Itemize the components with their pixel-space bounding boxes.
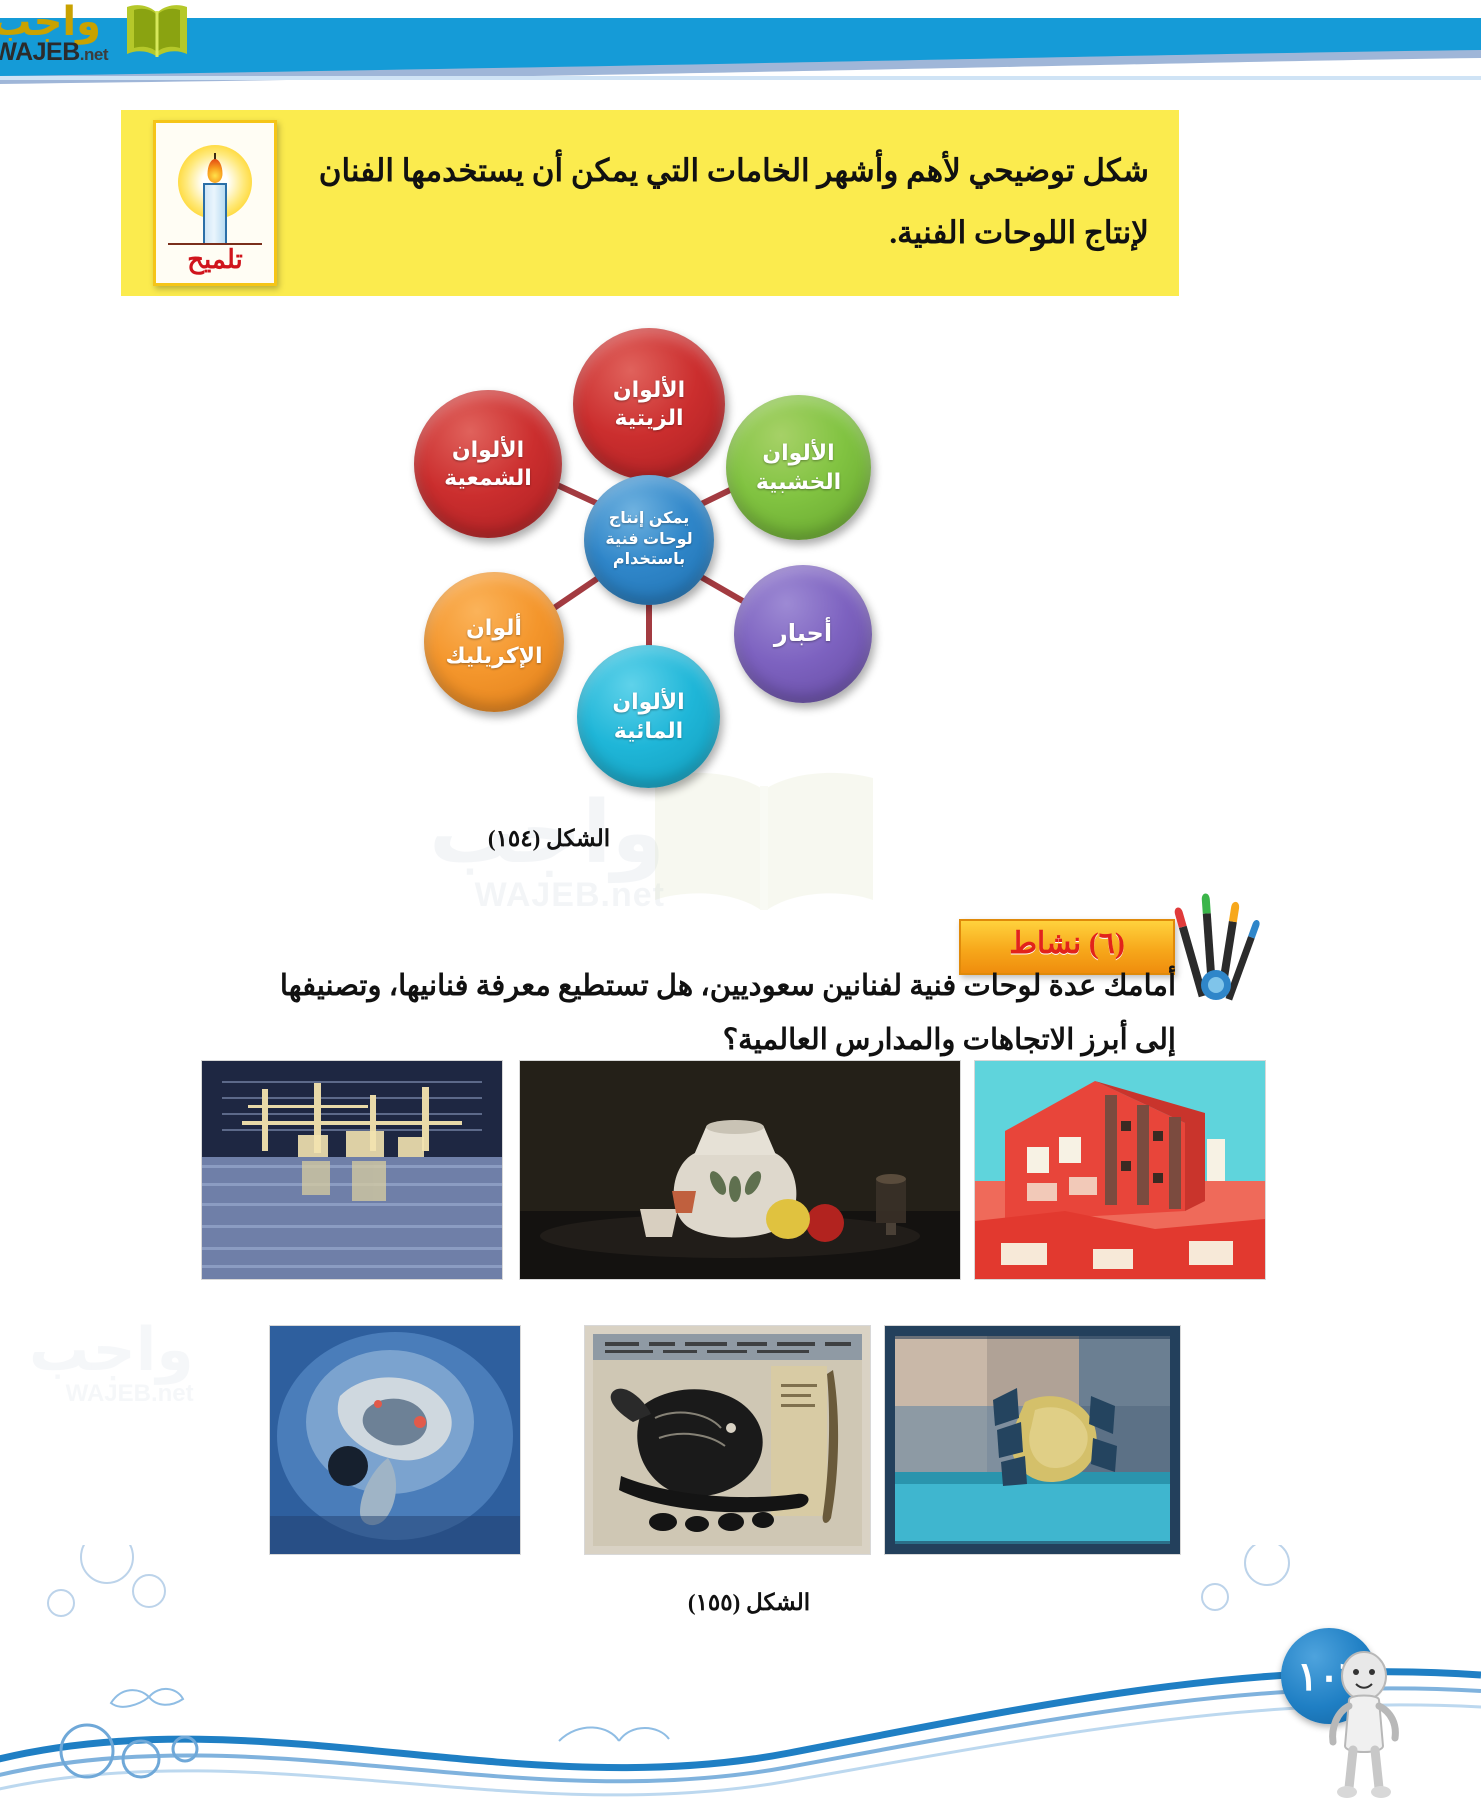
painting-blue-abstract[interactable] bbox=[270, 1325, 522, 1555]
diagram-node-label: أحبار bbox=[769, 619, 839, 650]
painting-still-life-vase[interactable] bbox=[520, 1060, 962, 1280]
page-footer bbox=[0, 1545, 1482, 1800]
figure-caption-154: الشكل (١٥٤) bbox=[450, 826, 650, 852]
site-brand: واجب WAJEB.net bbox=[14, 2, 214, 64]
diagram-node-wood-colors[interactable]: الألوان الخشبية bbox=[727, 395, 872, 540]
diagram-node-label: الألوان الزيتية bbox=[574, 376, 726, 432]
activity-question-text: أمامك عدة لوحات فنية لفنانين سعوديين، هل… bbox=[277, 960, 1177, 1067]
diagram-node-wax-colors[interactable]: الألوان الشمعية bbox=[415, 390, 563, 538]
diagram-node-label: الألوان الشمعية bbox=[415, 436, 563, 492]
hint-box: شكل توضيحي لأهم وأشهر الخامات التي يمكن … bbox=[122, 110, 1180, 296]
diagram-node-oil-colors[interactable]: الألوان الزيتية bbox=[574, 328, 726, 480]
painting-calligraphy-dark[interactable] bbox=[585, 1325, 872, 1555]
paintings-row-2 bbox=[0, 1325, 1482, 1555]
hint-label: تلميح bbox=[157, 245, 275, 275]
candle-icon bbox=[204, 183, 228, 245]
hint-text: شكل توضيحي لأهم وأشهر الخامات التي يمكن … bbox=[290, 140, 1150, 264]
activity-label: (٦) نشاط bbox=[962, 926, 1174, 961]
painting-cityscape-blue[interactable] bbox=[202, 1060, 504, 1280]
watermark-main: واجب WAJEB.net bbox=[430, 790, 666, 915]
diagram-node-inks[interactable]: أحبار bbox=[735, 565, 873, 703]
diagram-node-center[interactable]: يمكن إنتاج لوحات فنية باستخدام bbox=[585, 475, 715, 605]
brand-latin: WAJEB.net bbox=[0, 40, 109, 65]
watermark-latin: WAJEB.net bbox=[430, 876, 666, 915]
painting-geometric-sphere[interactable] bbox=[885, 1325, 1182, 1555]
hint-icon-card: تلميح bbox=[154, 120, 278, 286]
materials-diagram: الألوان الزيتية الألوان الخشبية أحبار ال… bbox=[390, 300, 910, 800]
open-book-icon bbox=[124, 0, 192, 62]
paintings-row-1 bbox=[0, 1060, 1482, 1280]
diagram-node-label: الألوان الخشبية bbox=[727, 439, 872, 495]
diagram-node-label: ألوان الإكريليك bbox=[425, 614, 565, 670]
flame-icon bbox=[209, 159, 224, 183]
diagram-node-watercolors[interactable]: الألوان المائية bbox=[578, 645, 721, 788]
painting-red-architecture[interactable] bbox=[975, 1060, 1267, 1280]
diagram-node-label: الألوان المائية bbox=[578, 688, 721, 744]
mascot-icon bbox=[1320, 1650, 1410, 1800]
page-header bbox=[0, 0, 1482, 95]
diagram-node-acrylic-colors[interactable]: ألوان الإكريليك bbox=[425, 572, 565, 712]
brand-arabic: واجب bbox=[0, 2, 102, 42]
diagram-center-label: يمكن إنتاج لوحات فنية باستخدام bbox=[585, 509, 715, 570]
